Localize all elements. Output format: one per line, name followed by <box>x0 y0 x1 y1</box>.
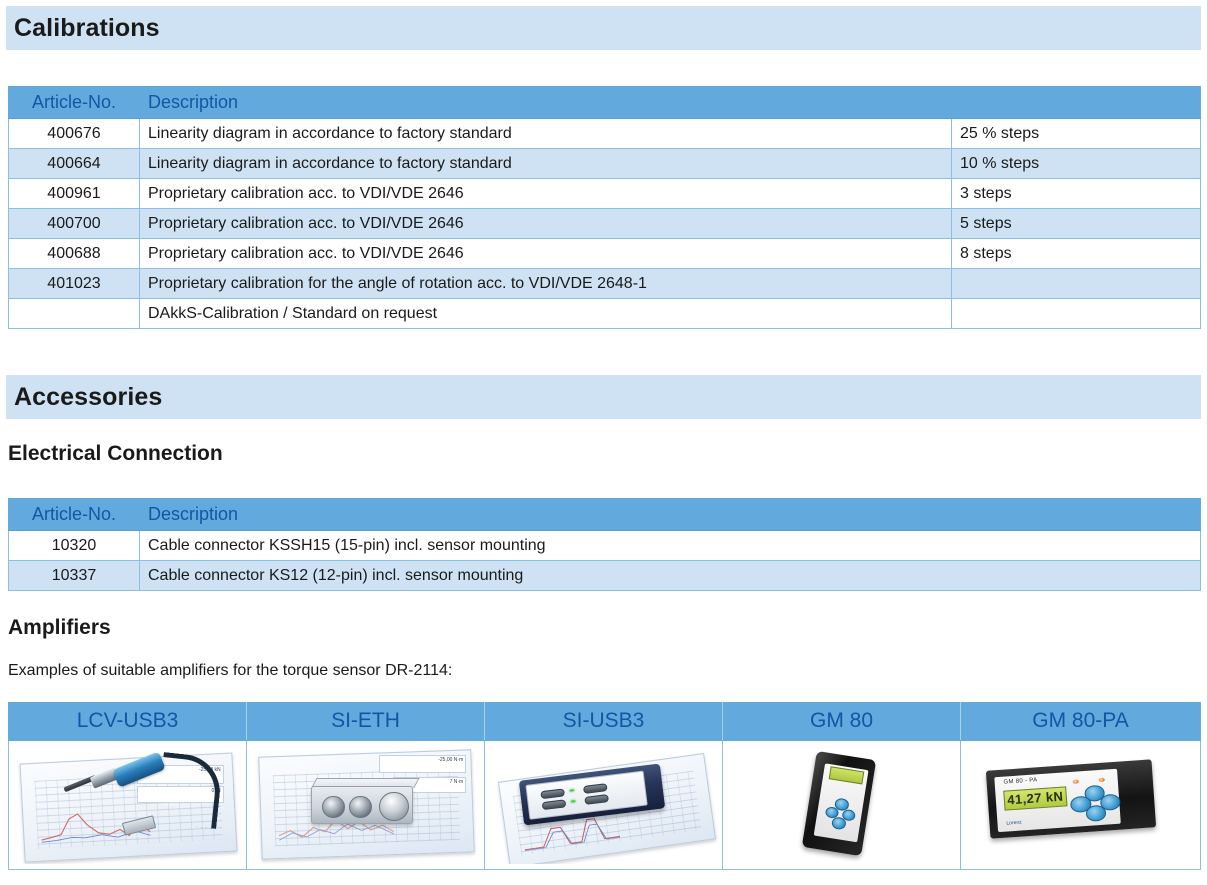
column-header-article-no: Article-No. <box>9 87 140 119</box>
panel-meter-body: GM 80 - PA 41,27 kN Lorenz <box>986 759 1157 839</box>
cell-article-no: 400961 <box>9 179 140 209</box>
column-header-steps <box>952 87 1201 119</box>
handheld-body <box>802 751 876 856</box>
cell-description: Proprietary calibration acc. to VDI/VDE … <box>140 239 952 269</box>
amplifiers-gallery-table: LCV-USB3 SI-ETH SI-USB3 GM 80 GM 80-PA <box>8 702 1201 870</box>
cell-article-no: 400664 <box>9 149 140 179</box>
gallery-header-gm-80-pa: GM 80-PA <box>961 703 1201 741</box>
table-row: DAkkS-Calibration / Standard on request <box>9 299 1201 329</box>
dsub-connector-1 <box>540 788 565 798</box>
gallery-header-lcv-usb3: LCV-USB3 <box>9 703 247 741</box>
table-row: 400676 Linearity diagram in accordance t… <box>9 119 1201 149</box>
front-panel <box>814 763 870 843</box>
table-row: 401023 Proprietary calibration for the a… <box>9 269 1201 299</box>
cell-article-no: 400676 <box>9 119 140 149</box>
cell-description: Proprietary calibration for the angle of… <box>140 269 952 299</box>
gallery-cell-gm-80 <box>723 741 961 870</box>
cell-article-no: 400700 <box>9 209 140 239</box>
cell-steps: 25 % steps <box>952 119 1201 149</box>
cell-description: Cable connector KSSH15 (15-pin) incl. se… <box>140 531 1201 561</box>
status-led-1 <box>569 789 574 792</box>
setpoint-lamp-1 <box>1073 779 1079 784</box>
connector-port-2 <box>349 796 372 819</box>
calibrations-banner: Calibrations <box>6 6 1201 50</box>
cell-steps <box>952 299 1201 329</box>
cell-article-no: 10320 <box>9 531 140 561</box>
accessories-title: Accessories <box>14 383 162 412</box>
table-row: 400664 Linearity diagram in accordance t… <box>9 149 1201 179</box>
gallery-header-row: LCV-USB3 SI-ETH SI-USB3 GM 80 GM 80-PA <box>9 703 1201 741</box>
cell-description: Linearity diagram in accordance to facto… <box>140 149 952 179</box>
table-row: 10320 Cable connector KSSH15 (15-pin) in… <box>9 531 1201 561</box>
cell-steps <box>952 269 1201 299</box>
accessories-banner: Accessories <box>6 375 1201 419</box>
table-row: 400961 Proprietary calibration acc. to V… <box>9 179 1201 209</box>
product-image-gm-80-pa: GM 80 - PA 41,27 kN Lorenz <box>965 746 1196 864</box>
table-row: 10337 Cable connector KS12 (12-pin) incl… <box>9 561 1201 591</box>
cell-description: Proprietary calibration acc. to VDI/VDE … <box>140 209 952 239</box>
product-image-lcv-usb3: -25,63 kN 0 IN <box>13 746 242 864</box>
table-row: 400688 Proprietary calibration acc. to V… <box>9 239 1201 269</box>
dsub-connector-4 <box>584 794 609 804</box>
column-header-description: Description <box>140 499 1201 531</box>
gallery-cell-si-eth: -25,00 N·m 7 N·m <box>247 741 485 870</box>
product-image-si-usb3 <box>489 746 718 864</box>
cell-steps: 3 steps <box>952 179 1201 209</box>
column-header-article-no: Article-No. <box>9 499 140 531</box>
cell-article-no: 10337 <box>9 561 140 591</box>
setpoint-lamp-2 <box>1098 777 1104 782</box>
amplifiers-heading: Amplifiers <box>8 616 1207 640</box>
lcd-display <box>829 767 865 785</box>
connector-port-1 <box>322 796 345 819</box>
table-header-row: Article-No. Description <box>9 87 1201 119</box>
cell-article-no <box>9 299 140 329</box>
cell-steps: 5 steps <box>952 209 1201 239</box>
dsub-connector-3 <box>583 783 608 793</box>
calibrations-table: Article-No. Description 400676 Linearity… <box>8 86 1201 329</box>
gallery-cell-lcv-usb3: -25,63 kN 0 IN <box>9 741 247 870</box>
cell-description: Linearity diagram in accordance to facto… <box>140 119 952 149</box>
cell-article-no: 400688 <box>9 239 140 269</box>
model-label: GM 80 - PA <box>1003 777 1037 785</box>
calibrations-title: Calibrations <box>14 14 160 43</box>
status-led-2 <box>571 800 576 803</box>
front-panel: GM 80 - PA 41,27 kN Lorenz <box>995 768 1122 831</box>
cell-steps: 8 steps <box>952 239 1201 269</box>
table-row: 400700 Proprietary calibration acc. to V… <box>9 209 1201 239</box>
cell-steps: 10 % steps <box>952 149 1201 179</box>
lcd-display: 41,27 kN <box>1003 786 1068 810</box>
product-image-si-eth: -25,00 N·m 7 N·m <box>251 746 480 864</box>
cell-description: DAkkS-Calibration / Standard on request <box>140 299 952 329</box>
electrical-connection-heading: Electrical Connection <box>8 442 1207 466</box>
cell-article-no: 401023 <box>9 269 140 299</box>
gallery-cell-si-usb3 <box>485 741 723 870</box>
dsub-connector-2 <box>541 799 566 809</box>
connector-port-3 <box>379 792 408 821</box>
gallery-cell-gm-80-pa: GM 80 - PA 41,27 kN Lorenz <box>961 741 1201 870</box>
product-image-gm-80 <box>727 746 956 864</box>
gallery-header-si-eth: SI-ETH <box>247 703 485 741</box>
escape-key-icon <box>1100 793 1121 810</box>
electrical-connection-table: Article-No. Description 10320 Cable conn… <box>8 498 1201 591</box>
table-header-row: Article-No. Description <box>9 499 1201 531</box>
cell-description: Cable connector KS12 (12-pin) incl. sens… <box>140 561 1201 591</box>
gallery-header-si-usb3: SI-USB3 <box>485 703 723 741</box>
gallery-header-gm-80: GM 80 <box>723 703 961 741</box>
gallery-image-row: -25,63 kN 0 IN <box>9 741 1201 870</box>
amplifiers-intro: Examples of suitable amplifiers for the … <box>8 662 1207 680</box>
cell-description: Proprietary calibration acc. to VDI/VDE … <box>140 179 952 209</box>
readout-value-primary: -25,00 N·m <box>379 755 466 773</box>
column-header-description: Description <box>140 87 952 119</box>
brand-label: Lorenz <box>1006 820 1022 827</box>
